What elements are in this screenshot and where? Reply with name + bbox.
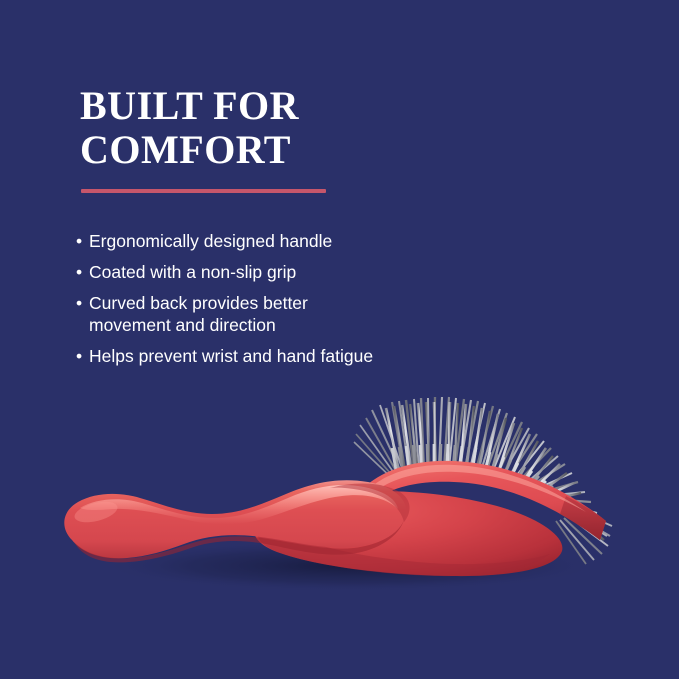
bullet-dot-icon: • — [76, 292, 82, 314]
page-title: BUILT FOR COMFORT — [80, 84, 510, 172]
bristle-group — [354, 397, 612, 564]
text-block: BUILT FOR COMFORT — [80, 84, 510, 172]
bullet-dot-icon: • — [76, 230, 82, 252]
list-item: • Curved back provides better movement a… — [76, 292, 496, 336]
bullet-dot-icon: • — [76, 261, 82, 283]
brush-handle — [64, 480, 406, 558]
feature-list: • Ergonomically designed handle • Coated… — [76, 230, 496, 376]
title-divider — [81, 189, 326, 193]
list-item-label: Ergonomically designed handle — [89, 230, 374, 252]
brush-head-body — [254, 491, 562, 576]
brush-head-plate — [352, 461, 606, 540]
list-item: • Helps prevent wrist and hand fatigue — [76, 345, 496, 367]
list-item-label: Coated with a non-slip grip — [89, 261, 374, 283]
handle-highlight — [80, 485, 398, 524]
list-item: • Ergonomically designed handle — [76, 230, 496, 252]
bullet-dot-icon: • — [76, 345, 82, 367]
infographic-canvas: BUILT FOR COMFORT • Ergonomically design… — [0, 0, 679, 679]
list-item-label: Helps prevent wrist and hand fatigue — [89, 345, 489, 367]
list-item: • Coated with a non-slip grip — [76, 261, 496, 283]
plate-tail — [341, 500, 360, 530]
list-item-label: Curved back provides better movement and… — [89, 292, 374, 336]
